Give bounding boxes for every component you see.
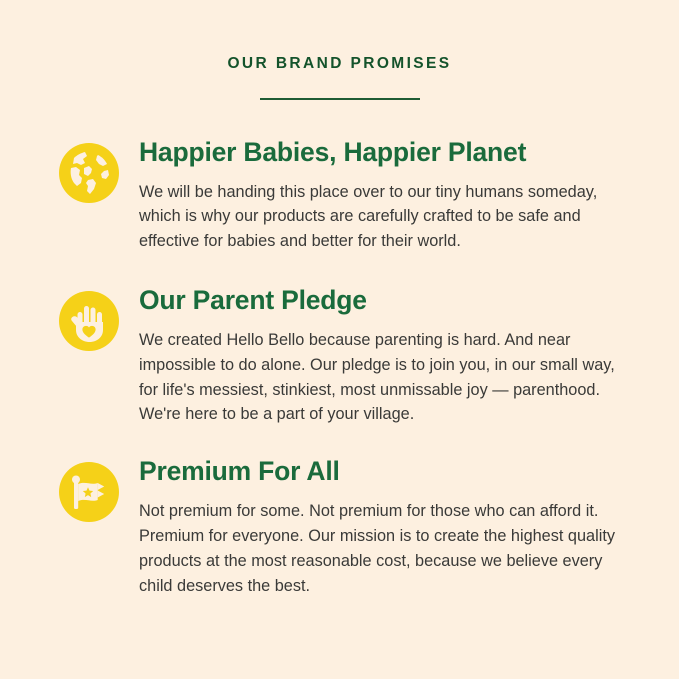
promise-title: Our Parent Pledge (139, 286, 623, 315)
header-divider (260, 98, 420, 100)
promise-content: Premium For All Not premium for some. No… (120, 457, 623, 598)
promise-item: Happier Babies, Happier Planet We will b… (58, 138, 623, 254)
brand-promises-page: OUR BRAND PROMISES (0, 0, 679, 679)
promise-item: Our Parent Pledge We created Hello Bello… (58, 286, 623, 427)
promise-title: Premium For All (139, 457, 623, 486)
promise-content: Our Parent Pledge We created Hello Bello… (120, 286, 623, 427)
promise-description: We will be handing this place over to ou… (139, 180, 623, 254)
promise-description: Not premium for some. Not premium for th… (139, 499, 623, 598)
flag-star-icon (58, 461, 120, 523)
promise-title: Happier Babies, Happier Planet (139, 138, 623, 167)
hand-heart-icon (58, 290, 120, 352)
page-title: OUR BRAND PROMISES (0, 56, 679, 72)
promise-item: Premium For All Not premium for some. No… (58, 457, 623, 598)
promise-description: We created Hello Bello because parenting… (139, 328, 623, 427)
promise-list: Happier Babies, Happier Planet We will b… (0, 138, 679, 599)
page-header: OUR BRAND PROMISES (0, 0, 679, 100)
globe-icon (58, 142, 120, 204)
promise-content: Happier Babies, Happier Planet We will b… (120, 138, 623, 254)
